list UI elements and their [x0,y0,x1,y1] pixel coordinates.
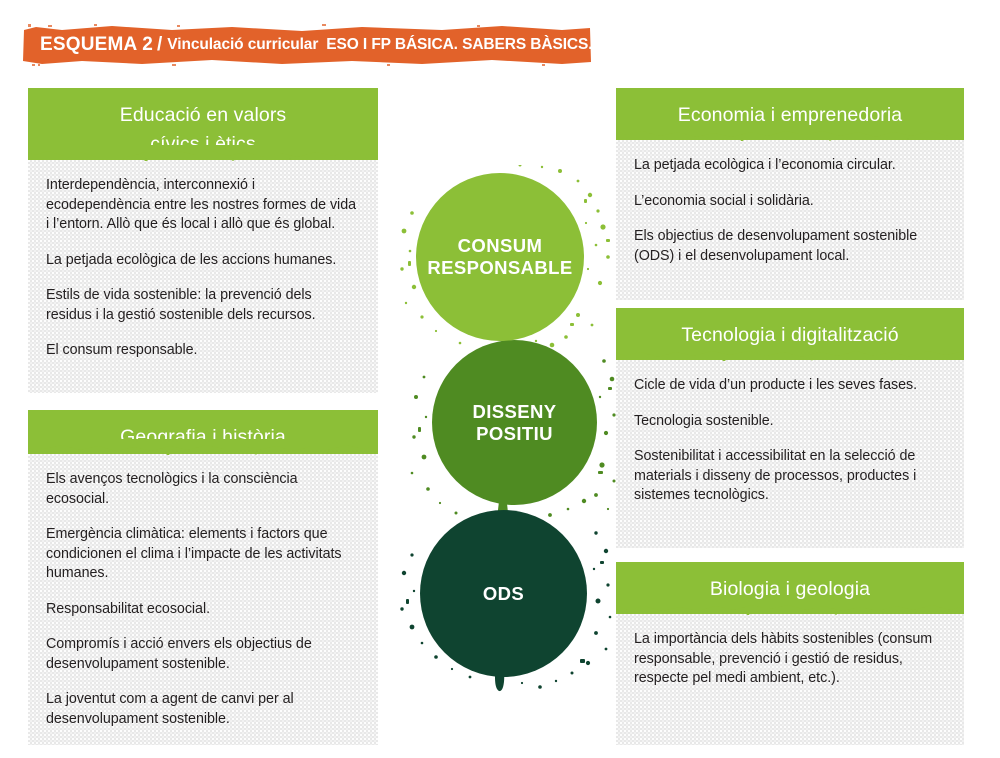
panel-item: Els avenços tecnològics i la consciència… [46,470,360,509]
panel-header-biologia-geologia: Biologia i geologia [616,562,964,614]
panel-item: Responsabilitat ecosocial. [46,600,360,620]
torn-edge-icon [28,439,378,455]
header-separator: / [157,34,162,56]
panel-body-educacio-valors: Interdependència, interconnexió i ecodep… [28,160,378,393]
header-esquema-label: ESQUEMA 2 [40,34,153,56]
circle-consum-responsable: CONSUM RESPONSABLE [416,173,584,341]
panel-item: La petjada ecològica i l’economia circul… [634,156,946,176]
circle-ods: ODS [420,510,587,677]
panel-item: Interdependència, interconnexió i ecodep… [46,176,360,235]
panel-header-educacio-valors: Educació en valors cívics i ètics [28,88,378,160]
panel-item: El consum responsable. [46,341,360,361]
panel-item: L’economia social i solidària. [634,192,946,212]
panel-item: Els objectius de desenvolupament sosteni… [634,227,946,266]
header-subtitle: Vinculació curricular [167,36,318,54]
torn-edge-icon [616,345,964,361]
circle-line2: POSITIU [476,423,553,444]
torn-edge-icon [28,145,378,161]
panel-geografia-historia: Geografia i història Els avenços tecnolò… [28,410,378,745]
panel-economia-emprenedoria: Economia i emprenedoria La petjada ecolò… [616,88,964,300]
panel-item: La petjada ecològica de les accions huma… [46,251,360,271]
torn-edge-icon [616,599,964,615]
panel-item: Tecnologia sostenible. [634,412,946,432]
circle-line1: ODS [483,583,524,604]
circle-line1: DISSENY [472,401,556,422]
panel-tecnologia-digitalitzacio: Tecnologia i digitalització Cicle de vid… [616,308,964,548]
central-circles-group: CONSUM RESPONSABLE DISSENY POSITIU ODS [400,165,630,695]
panel-title-line1: Educació en valors [28,101,378,130]
panel-educacio-valors: Educació en valors cívics i ètics Interd… [28,88,378,393]
panel-item: La importància dels hàbits sostenibles (… [634,630,946,689]
panel-item: La joventut com a agent de canvi per al … [46,690,360,729]
panel-item: Sostenibilitat i accessibilitat en la se… [634,447,946,506]
panel-biologia-geologia: Biologia i geologia La importància dels … [616,562,964,745]
panel-header-tecnologia-digitalitzacio: Tecnologia i digitalització [616,308,964,360]
circle-disseny-positiu: DISSENY POSITIU [432,340,597,505]
panel-body-geografia-historia: Els avenços tecnològics i la consciència… [28,454,378,745]
panel-item: Emergència climàtica: elements i factors… [46,525,360,584]
panel-header-geografia-historia: Geografia i història [28,410,378,454]
panel-body-economia-emprenedoria: La petjada ecològica i l’economia circul… [616,140,964,300]
panel-header-economia-emprenedoria: Economia i emprenedoria [616,88,964,140]
torn-edge-icon [616,125,964,141]
panel-body-biologia-geologia: La importància dels hàbits sostenibles (… [616,614,964,745]
panel-item: Estils de vida sostenible: la prevenció … [46,286,360,325]
panel-item: Compromís i acció envers els objectius d… [46,635,360,674]
panel-body-tecnologia-digitalitzacio: Cicle de vida d’un producte i les seves … [616,360,964,548]
header-banner-text: ESQUEMA 2 / Vinculació curricular ESO I … [40,24,592,66]
circle-label-consum: CONSUM RESPONSABLE [427,235,572,279]
header-banner: ESQUEMA 2 / Vinculació curricular ESO I … [22,24,592,66]
panel-item: Cicle de vida d’un producte i les seves … [634,376,946,396]
circle-label-ods: ODS [483,583,524,605]
circle-label-disseny: DISSENY POSITIU [472,401,556,445]
circle-line2: RESPONSABLE [427,257,572,278]
circle-line1: CONSUM [458,235,543,256]
header-subtitle-2: ESO I FP BÁSICA. SABERS BÀSICS. [326,36,592,54]
